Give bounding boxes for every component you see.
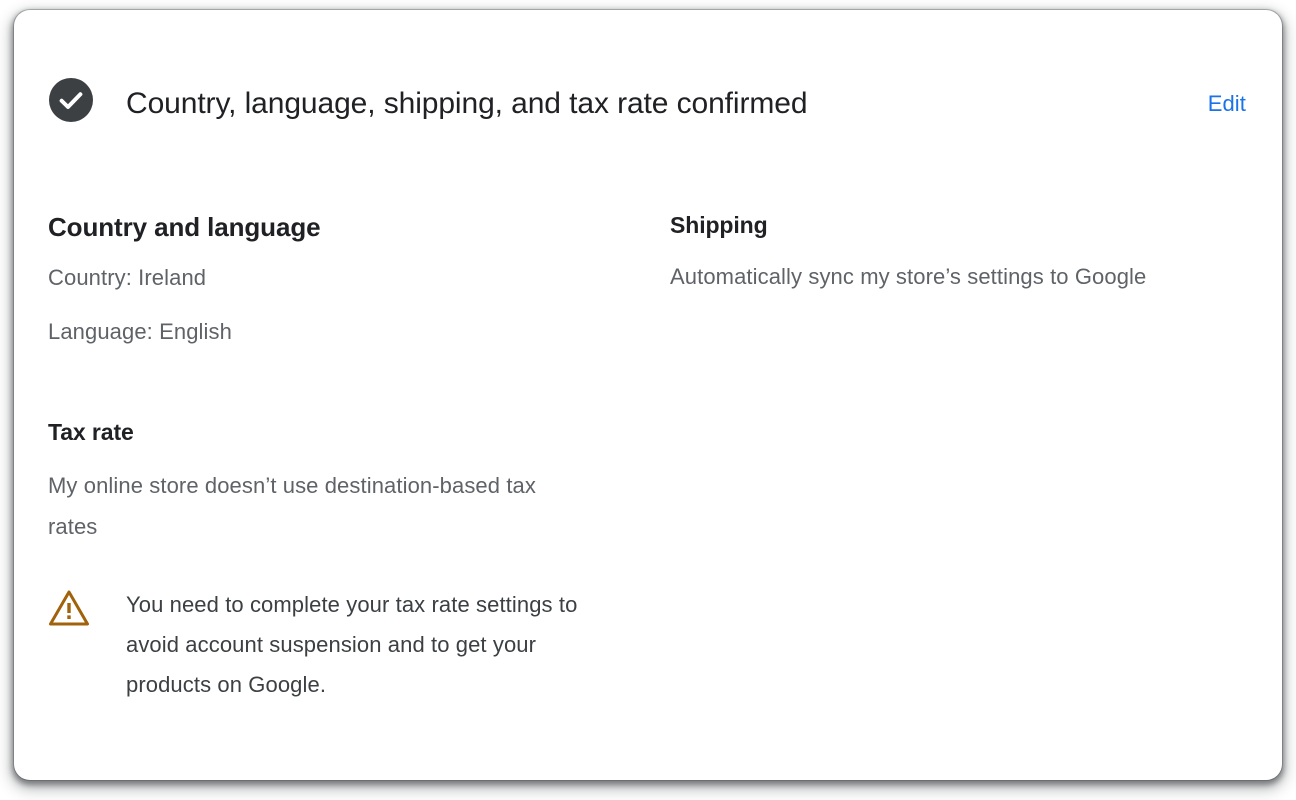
country-language-heading: Country and language: [48, 210, 320, 244]
warning-message: You need to complete your tax rate setti…: [126, 585, 608, 705]
card-header: Country, language, shipping, and tax rat…: [14, 10, 1282, 145]
tax-rate-value: My online store doesn’t use destination-…: [48, 465, 568, 547]
warning-triangle-icon: [48, 587, 90, 629]
page-title: Country, language, shipping, and tax rat…: [126, 84, 807, 124]
edit-button[interactable]: Edit: [1208, 89, 1246, 119]
check-circle-filled-icon: [49, 78, 93, 122]
page-root: Country, language, shipping, and tax rat…: [0, 0, 1296, 800]
confirmation-card: Country, language, shipping, and tax rat…: [14, 10, 1282, 780]
tax-rate-heading: Tax rate: [48, 417, 568, 447]
shipping-heading: Shipping: [670, 210, 1146, 240]
tax-rate-section: Tax rate My online store doesn’t use des…: [48, 417, 568, 547]
language-value: Language: English: [48, 312, 320, 352]
shipping-section: Shipping Automatically sync my store’s s…: [670, 210, 1146, 297]
country-value: Country: Ireland: [48, 258, 320, 298]
country-language-section: Country and language Country: Ireland La…: [48, 210, 320, 352]
shipping-value: Automatically sync my store’s settings t…: [670, 256, 1146, 297]
tax-rate-warning: You need to complete your tax rate setti…: [48, 585, 608, 705]
